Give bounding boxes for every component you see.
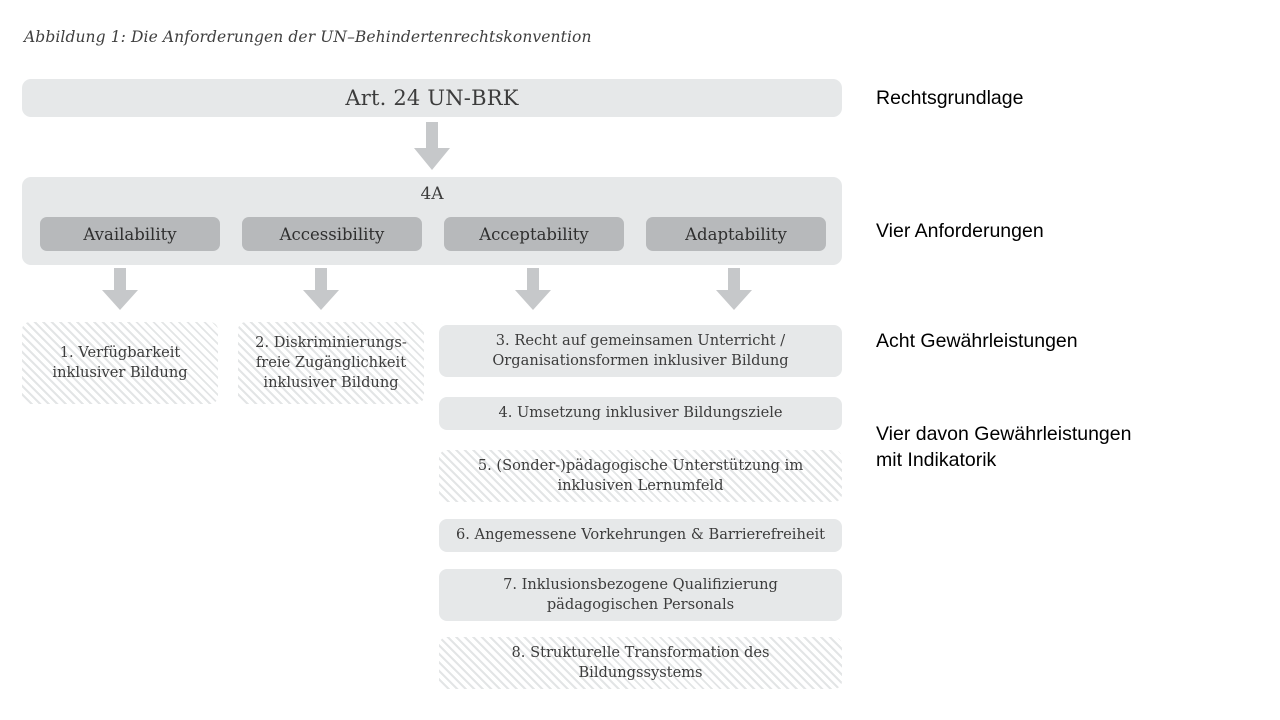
guarantee-box-2[interactable]: 2. Diskriminierungs- freie Zugänglichkei… bbox=[238, 322, 424, 404]
guarantee-label: 5. (Sonder-)pädagogische Unterstützung i… bbox=[478, 456, 803, 496]
guarantee-box-5[interactable]: 5. (Sonder-)pädagogische Unterstützung i… bbox=[439, 450, 842, 502]
guarantee-label: 8. Strukturelle Transformation des Bildu… bbox=[512, 643, 770, 683]
guarantee-label: 4. Umsetzung inklusiver Bildungsziele bbox=[498, 403, 782, 423]
requirement-pill-label: Adaptability bbox=[685, 225, 787, 244]
guarantee-box-7[interactable]: 7. Inklusionsbezogene Qualifizierung päd… bbox=[439, 569, 842, 621]
guarantee-box-6[interactable]: 6. Angemessene Vorkehrungen & Barrierefr… bbox=[439, 519, 842, 552]
guarantee-label: 7. Inklusionsbezogene Qualifizierung päd… bbox=[503, 575, 778, 615]
four-a-box: 4A Availability Accessibility Acceptabil… bbox=[22, 177, 842, 265]
guarantee-box-1[interactable]: 1. Verfügbarkeit inklusiver Bildung bbox=[22, 322, 218, 404]
guarantee-label: 2. Diskriminierungs- freie Zugänglichkei… bbox=[255, 333, 407, 393]
guarantee-label: 6. Angemessene Vorkehrungen & Barrierefr… bbox=[456, 525, 825, 545]
requirement-pill-label: Acceptability bbox=[479, 225, 589, 244]
arrow-down-icon-adaptability bbox=[714, 268, 754, 312]
arrow-down-icon-accessibility bbox=[301, 268, 341, 312]
annotation-four-with-indicators: Vier davon Gewährleistungen mit Indikato… bbox=[876, 422, 1131, 474]
requirement-pill-adaptability[interactable]: Adaptability bbox=[646, 217, 826, 251]
legal-basis-label: Art. 24 UN-BRK bbox=[345, 86, 518, 110]
four-a-title: 4A bbox=[22, 184, 842, 204]
guarantee-box-4[interactable]: 4. Umsetzung inklusiver Bildungsziele bbox=[439, 397, 842, 430]
arrow-down-icon-law-to-4a bbox=[412, 122, 452, 172]
guarantee-label: 1. Verfügbarkeit inklusiver Bildung bbox=[52, 343, 187, 383]
arrow-down-icon-availability bbox=[100, 268, 140, 312]
requirement-pill-acceptability[interactable]: Acceptability bbox=[444, 217, 624, 251]
annotation-eight-guarantees: Acht Gewährleistungen bbox=[876, 329, 1078, 355]
legal-basis-box: Art. 24 UN-BRK bbox=[22, 79, 842, 117]
requirement-pill-label: Accessibility bbox=[280, 225, 385, 244]
annotation-legal-basis: Rechtsgrundlage bbox=[876, 86, 1023, 112]
requirement-pill-availability[interactable]: Availability bbox=[40, 217, 220, 251]
figure-caption: Abbildung 1: Die Anforderungen der UN–Be… bbox=[24, 28, 592, 46]
annotation-four-requirements: Vier Anforderungen bbox=[876, 219, 1044, 245]
guarantee-box-3[interactable]: 3. Recht auf gemeinsamen Unterricht / Or… bbox=[439, 325, 842, 377]
arrow-down-icon-acceptability bbox=[513, 268, 553, 312]
requirement-pill-label: Availability bbox=[83, 225, 176, 244]
guarantee-label: 3. Recht auf gemeinsamen Unterricht / Or… bbox=[492, 331, 788, 371]
guarantee-box-8[interactable]: 8. Strukturelle Transformation des Bildu… bbox=[439, 637, 842, 689]
requirement-pill-accessibility[interactable]: Accessibility bbox=[242, 217, 422, 251]
